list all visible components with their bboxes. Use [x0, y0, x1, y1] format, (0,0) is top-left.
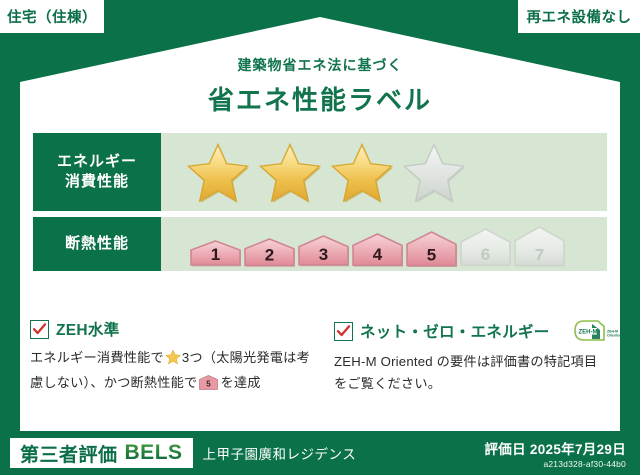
row-energy-performance-label: エネルギー 消費性能 — [33, 133, 161, 211]
svg-text:3: 3 — [319, 245, 328, 264]
row-insulation-performance-label: 断熱性能 — [33, 217, 161, 271]
rating-rows: エネルギー 消費性能 断熱性能 1234567 — [33, 133, 607, 277]
row-insulation-performance-value: 1234567 — [161, 217, 607, 271]
tag-renewable-energy-label: 再エネ設備なし — [527, 6, 632, 27]
label-title-block: 建築物省エネ法に基づく 省エネ性能ラベル — [0, 55, 640, 117]
insulation-badge-active: 2 — [243, 233, 296, 267]
info-zeh-body-part1: エネルギー消費性能で — [30, 350, 164, 365]
zeh-m-logo-icon: ZEH-M ZEH-M Oriented — [561, 318, 623, 344]
svg-text:4: 4 — [373, 245, 383, 264]
insulation-badge-inactive: 6 — [459, 223, 512, 267]
row-energy-performance: エネルギー 消費性能 — [33, 133, 607, 211]
star-rating — [185, 141, 467, 204]
row-insulation-performance: 断熱性能 1234567 — [33, 217, 607, 271]
svg-text:6: 6 — [481, 245, 490, 264]
svg-text:7: 7 — [535, 245, 544, 264]
tag-building-type: 住宅（住棟） — [0, 0, 104, 33]
insulation-badge-inactive: 7 — [513, 221, 566, 267]
star-icon-filled — [329, 141, 395, 204]
svg-text:2: 2 — [265, 245, 274, 264]
tag-building-type-label: 住宅（住棟） — [7, 6, 97, 27]
row-energy-performance-value — [161, 133, 607, 211]
info-net-zero-energy: ネット・ゼロ・エネルギー ZEH-M ZEH-M Oriented ZEH-M … — [320, 318, 610, 397]
info-section: ZEH水準 エネルギー消費性能で3つ（太陽光発電は考慮しない）、かつ断熱性能で5… — [30, 318, 610, 397]
info-zeh-body-part3: を達成 — [220, 375, 260, 390]
svg-text:5: 5 — [427, 245, 436, 264]
energy-performance-label: 住宅（住棟） 再エネ設備なし 建築物省エネ法に基づく 省エネ性能ラベル エネルギ… — [0, 0, 640, 475]
row-insulation-label-line1: 断熱性能 — [65, 234, 129, 254]
building-name: 上甲子園廣和レジデンス — [203, 443, 357, 463]
footer-bar: 第三者評価 BELS 上甲子園廣和レジデンス 評価日 2025年7月29日 a2… — [0, 431, 640, 475]
insulation-badge-scale: 1234567 — [185, 221, 566, 267]
info-zeh-title: ZEH水準 — [56, 318, 120, 340]
bels-en-label: BELS — [125, 441, 183, 465]
title-subtitle: 建築物省エネ法に基づく — [0, 55, 640, 75]
info-zeh-body: エネルギー消費性能で3つ（太陽光発電は考慮しない）、かつ断熱性能で5を達成 — [30, 347, 320, 397]
tag-renewable-energy: 再エネ設備なし — [518, 0, 640, 33]
document-id: a213d328-af30-44b0 — [484, 459, 626, 469]
svg-text:Oriented: Oriented — [607, 334, 621, 338]
svg-text:1: 1 — [211, 245, 220, 264]
info-zeh-heading: ZEH水準 — [30, 318, 320, 340]
evaluation-date: 評価日 2025年7月29日 — [484, 438, 626, 458]
bels-jp-label: 第三者評価 — [20, 440, 118, 467]
star-icon-filled — [257, 141, 323, 204]
check-icon — [334, 322, 353, 341]
info-nze-heading: ネット・ゼロ・エネルギー ZEH-M ZEH-M Oriented — [334, 318, 610, 344]
svg-text:ZEH-M: ZEH-M — [607, 330, 618, 334]
info-nze-title: ネット・ゼロ・エネルギー — [360, 320, 550, 342]
svg-text:5: 5 — [207, 379, 212, 388]
insulation-badge-active: 5 — [405, 226, 458, 268]
star-icon-empty — [401, 141, 467, 204]
inline-insulation-badge: 5 — [199, 375, 218, 397]
footer-meta: 評価日 2025年7月29日 a213d328-af30-44b0 — [484, 438, 626, 469]
insulation-badge-active: 3 — [297, 230, 350, 267]
row-energy-label-line2: 消費性能 — [65, 172, 129, 192]
svg-text:ZEH-M: ZEH-M — [578, 330, 597, 336]
insulation-badge-active: 1 — [189, 235, 242, 267]
check-icon — [30, 320, 49, 339]
info-zeh-standard: ZEH水準 エネルギー消費性能で3つ（太陽光発電は考慮しない）、かつ断熱性能で5… — [30, 318, 320, 397]
star-icon — [165, 353, 181, 368]
star-icon-filled — [185, 141, 251, 204]
bels-badge: 第三者評価 BELS — [10, 438, 193, 468]
insulation-badge-active: 4 — [351, 228, 404, 267]
info-nze-body: ZEH-M Oriented の要件は評価書の特記項目をご覧ください。 — [334, 351, 610, 395]
page-title: 省エネ性能ラベル — [0, 80, 640, 117]
row-energy-label-line1: エネルギー — [57, 152, 137, 172]
